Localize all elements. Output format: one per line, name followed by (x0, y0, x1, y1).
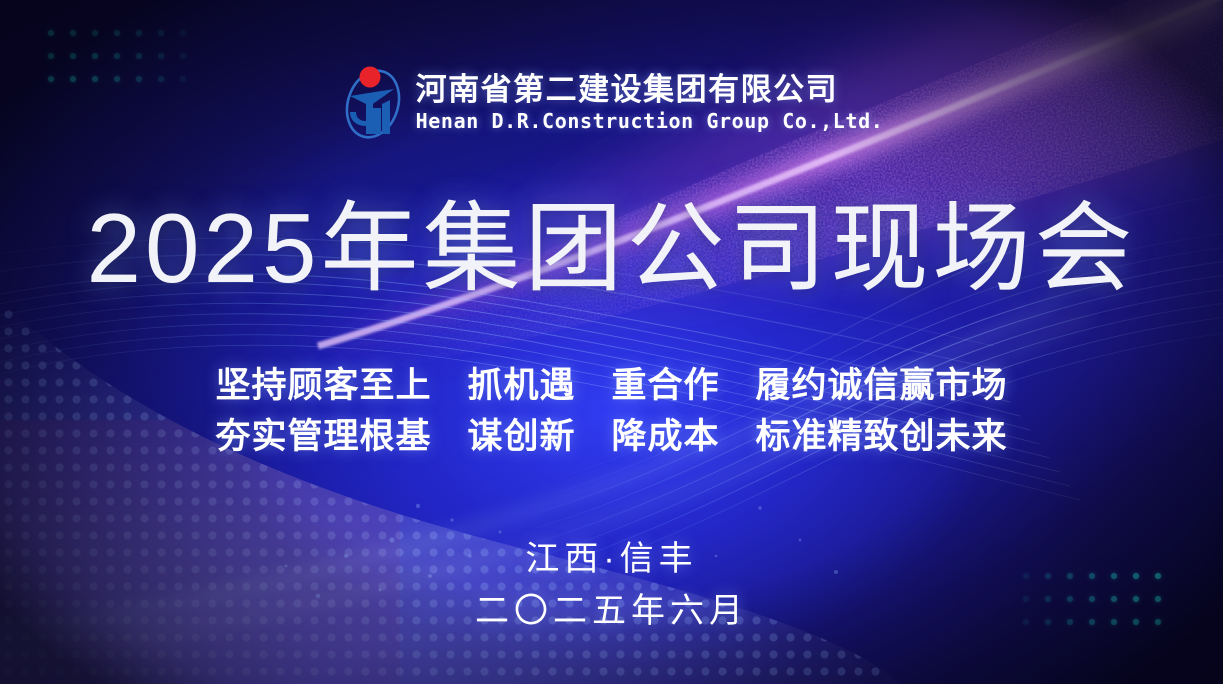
footer-group: 江西·信丰 二〇二五年六月 (0, 534, 1223, 637)
poster-canvas: 河南省第二建设集团有限公司 Henan D.R.Construction Gro… (0, 0, 1223, 684)
event-date: 二〇二五年六月 (0, 586, 1223, 638)
page-title: 2025年集团公司现场会 (0, 196, 1223, 302)
event-location: 江西·信丰 (0, 534, 1223, 586)
company-name-group: 河南省第二建设集团有限公司 Henan D.R.Construction Gro… (416, 72, 884, 134)
company-header: 河南省第二建设集团有限公司 Henan D.R.Construction Gro… (0, 62, 1223, 144)
company-logo-icon (340, 62, 402, 144)
slogan-line-2: 夯实管理根基 谋创新 降成本 标准精致创未来 (0, 411, 1223, 462)
company-name-en: Henan D.R.Construction Group Co.,Ltd. (416, 109, 884, 134)
company-name-cn: 河南省第二建设集团有限公司 (416, 72, 884, 109)
slogan-group: 坚持顾客至上 抓机遇 重合作 履约诚信赢市场 夯实管理根基 谋创新 降成本 标准… (0, 360, 1223, 462)
poster-content: 河南省第二建设集团有限公司 Henan D.R.Construction Gro… (0, 0, 1223, 684)
slogan-line-1: 坚持顾客至上 抓机遇 重合作 履约诚信赢市场 (0, 360, 1223, 411)
